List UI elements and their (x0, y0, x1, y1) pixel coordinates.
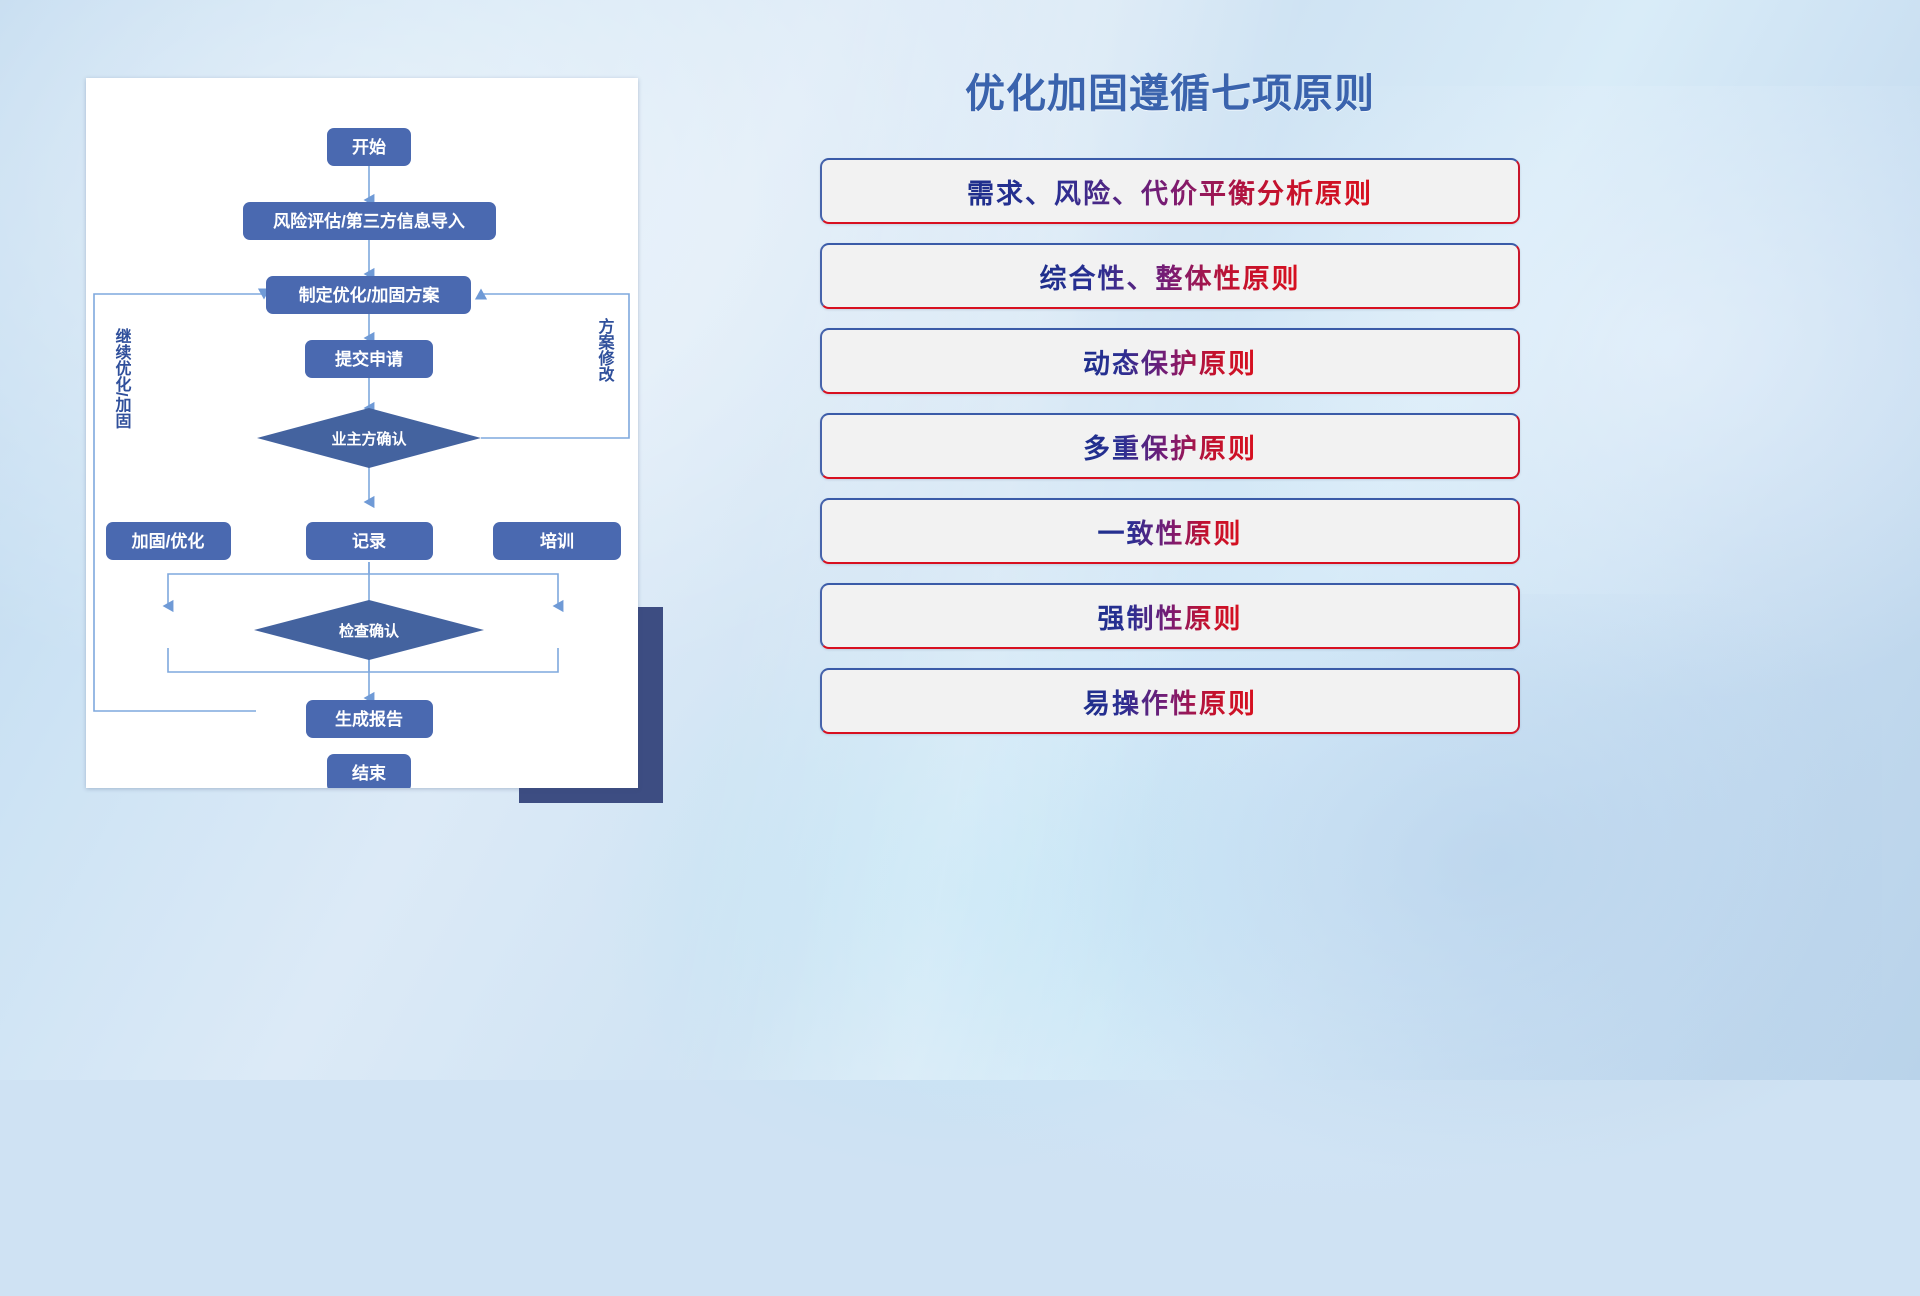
flow-edge-label-revise: 方案修改 (596, 317, 616, 383)
flow-node-training-label: 培训 (540, 531, 574, 551)
flow-node-risk[interactable]: 风险评估/第三方信息导入 (243, 202, 496, 240)
principle-label: 易操作性原则 (1083, 682, 1257, 721)
principles-list: 需求、风险、代价平衡分析原则 综合性、整体性原则 动态保护原则 多重保护原则 一… (820, 158, 1520, 734)
principles-panel: 优化加固遵循七项原则 需求、风险、代价平衡分析原则 综合性、整体性原则 动态保护… (820, 72, 1520, 832)
flow-node-record[interactable]: 记录 (306, 522, 433, 560)
flow-node-reinforce[interactable]: 加固/优化 (106, 522, 231, 560)
principle-card[interactable]: 需求、风险、代价平衡分析原则 (820, 158, 1520, 224)
flow-node-end-label: 结束 (352, 763, 386, 783)
flow-node-risk-label: 风险评估/第三方信息导入 (273, 211, 465, 231)
principle-card[interactable]: 多重保护原则 (820, 413, 1520, 479)
flow-node-start-label: 开始 (352, 137, 386, 157)
flow-node-check-confirm-label: 检查确认 (339, 622, 400, 640)
flow-node-owner-confirm-label: 业主方确认 (331, 430, 407, 448)
principle-card[interactable]: 强制性原则 (820, 583, 1520, 649)
flowchart-diagram: 开始 风险评估/第三方信息导入 制定优化/加固方案 提交申请 业主方确认 加固/… (86, 78, 638, 788)
flowchart-card: 开始 风险评估/第三方信息导入 制定优化/加固方案 提交申请 业主方确认 加固/… (86, 78, 638, 788)
flow-node-report[interactable]: 生成报告 (306, 700, 433, 738)
principle-card[interactable]: 综合性、整体性原则 (820, 243, 1520, 309)
flow-node-reinforce-label: 加固/优化 (131, 531, 205, 551)
flow-edge-label-continue: 继续优化/加固 (113, 327, 133, 429)
flow-node-plan-label: 制定优化/加固方案 (299, 285, 441, 305)
principle-card[interactable]: 动态保护原则 (820, 328, 1520, 394)
flow-node-report-label: 生成报告 (335, 709, 403, 729)
flow-node-submit-label: 提交申请 (335, 349, 403, 369)
principle-label: 一致性原则 (1098, 512, 1243, 551)
principle-label: 动态保护原则 (1083, 342, 1257, 381)
flow-node-check-confirm[interactable]: 检查确认 (254, 600, 484, 660)
flow-node-record-label: 记录 (352, 532, 386, 551)
principle-card[interactable]: 易操作性原则 (820, 668, 1520, 734)
principle-label: 综合性、整体性原则 (1040, 257, 1301, 296)
flow-node-start[interactable]: 开始 (327, 128, 411, 166)
flow-node-end[interactable]: 结束 (327, 754, 411, 788)
principles-title: 优化加固遵循七项原则 (820, 72, 1520, 116)
flow-node-owner-confirm[interactable]: 业主方确认 (257, 408, 481, 468)
principle-card[interactable]: 一致性原则 (820, 498, 1520, 564)
flow-node-training[interactable]: 培训 (493, 522, 621, 560)
principle-label: 强制性原则 (1098, 597, 1243, 636)
flow-node-submit[interactable]: 提交申请 (305, 340, 433, 378)
principle-label: 需求、风险、代价平衡分析原则 (967, 172, 1373, 211)
principle-label: 多重保护原则 (1083, 427, 1257, 466)
flow-node-plan[interactable]: 制定优化/加固方案 (266, 276, 471, 314)
